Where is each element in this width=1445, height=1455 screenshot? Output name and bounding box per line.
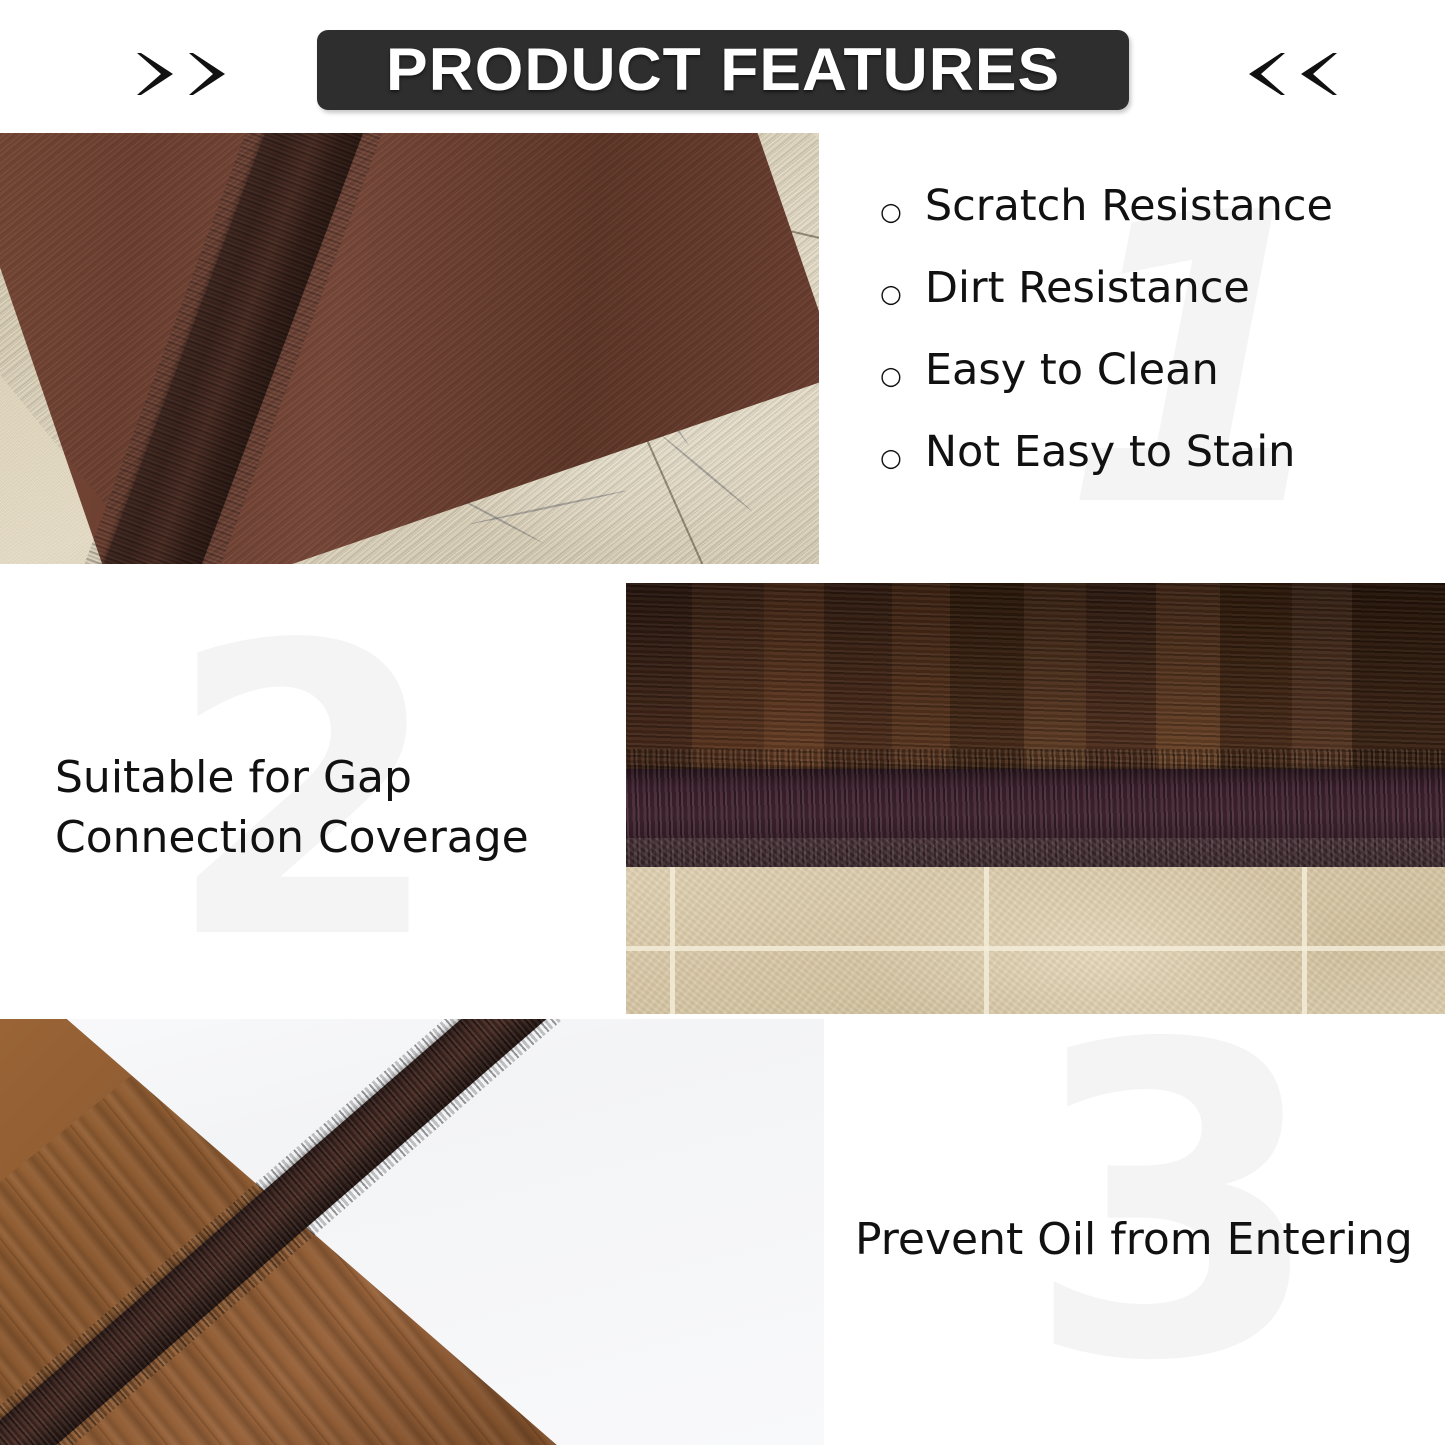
circle-bullet-icon: ○ [880,281,902,306]
double-chevron-left-icon [1243,50,1341,98]
feature-2-caption: Suitable for Gap Connection Coverage [55,620,615,868]
feature-2-caption-line-2: Connection Coverage [55,812,529,863]
white-surface-to-oak-floor-transition-photo [0,1019,824,1445]
feature-block-3: 3 Prevent Oil from Entering [855,1100,1445,1400]
double-chevron-right-icon [133,50,231,98]
feature-block-2: 2 Suitable for Gap Connection Coverage [55,620,615,960]
tile-grout-line [984,867,989,1014]
tile-grout-line [670,867,675,1014]
title-plate: PRODUCT FEATURES [317,30,1129,110]
wood-to-marble-tile-transition-photo [0,133,819,564]
rustic-wood-planks-surface [626,583,1445,773]
list-item: ○ Easy to Clean [880,349,1400,392]
feature-item-label: Dirt Resistance [925,267,1250,310]
header: PRODUCT FEATURES [0,0,1445,132]
page-title: PRODUCT FEATURES [386,40,1060,100]
feature-3-caption-line-1: Prevent Oil from Entering [855,1214,1413,1265]
tile-grout-line [626,946,1445,951]
feature-item-label: Easy to Clean [925,349,1219,392]
feature-item-label: Not Easy to Stain [925,431,1296,474]
feature-1-bullet-list: ○ Scratch Resistance ○ Dirt Resistance ○… [880,185,1400,474]
list-item: ○ Scratch Resistance [880,185,1400,228]
feature-2-caption-line-1: Suitable for Gap [55,752,412,803]
list-item: ○ Dirt Resistance [880,267,1400,310]
product-features-infographic: PRODUCT FEATURES [0,0,1445,1445]
feature-item-label: Scratch Resistance [925,185,1333,228]
feature-block-1: 1 ○ Scratch Resistance ○ Dirt Resistance… [880,185,1400,525]
feature-3-caption: Prevent Oil from Entering [855,1100,1445,1270]
circle-bullet-icon: ○ [880,199,902,224]
rustic-plank-to-travertine-transition-photo [626,583,1445,1014]
list-item: ○ Not Easy to Stain [880,431,1400,474]
circle-bullet-icon: ○ [880,363,902,388]
circle-bullet-icon: ○ [880,445,902,470]
